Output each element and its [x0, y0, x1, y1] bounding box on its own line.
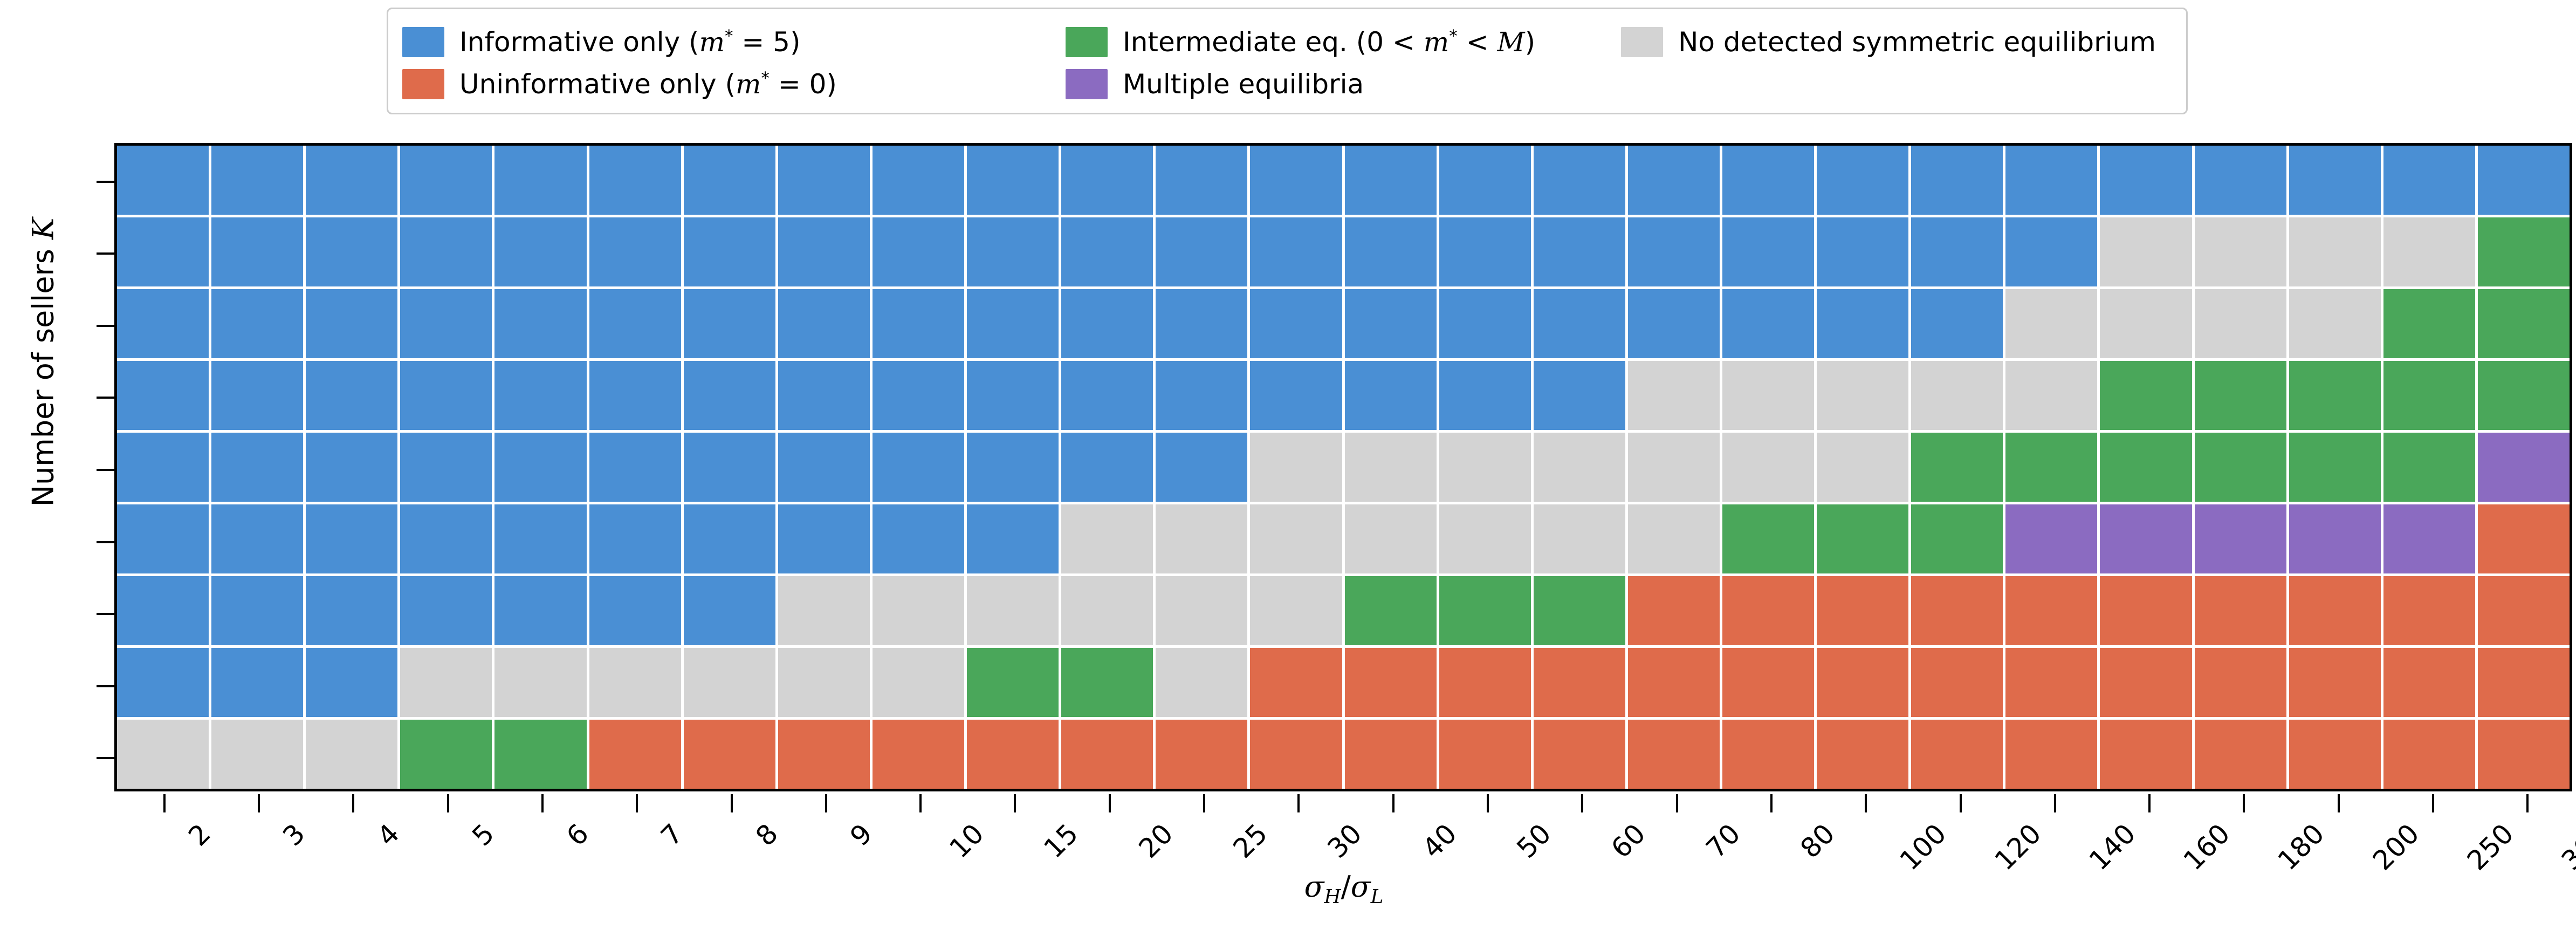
heatmap-cell[interactable]	[1439, 289, 1531, 358]
heatmap-cell[interactable]	[2383, 720, 2475, 789]
heatmap-cell[interactable]	[2195, 433, 2286, 502]
heatmap-cell[interactable]	[400, 146, 492, 215]
heatmap-cell[interactable]	[494, 504, 586, 573]
x-tick-label-80: 80	[1795, 818, 1841, 864]
heatmap-cell[interactable]	[1345, 433, 1437, 502]
x-tick-mark	[1297, 794, 1300, 812]
heatmap-cell[interactable]	[117, 504, 209, 573]
heatmap-cell[interactable]	[2383, 146, 2475, 215]
heatmap-cell[interactable]	[1250, 289, 1342, 358]
heatmap-cell[interactable]	[2289, 648, 2381, 717]
heatmap-cell[interactable]	[1911, 361, 2003, 430]
x-tick-label-5: 5	[466, 818, 500, 852]
heatmap-cell[interactable]	[778, 433, 870, 502]
x-tick-mark	[919, 794, 922, 812]
heatmap-cell[interactable]	[1250, 504, 1342, 573]
x-tick-label-10: 10	[944, 818, 990, 864]
heatmap-cell[interactable]	[2005, 217, 2097, 286]
heatmap-cell[interactable]	[2383, 504, 2475, 573]
heatmap-cell[interactable]	[1911, 720, 2003, 789]
heatmap-cell[interactable]	[589, 361, 681, 430]
x-tick-label-25: 25	[1227, 818, 1274, 864]
heatmap-cell[interactable]	[211, 361, 303, 430]
heatmap-cell[interactable]	[1628, 433, 1720, 502]
x-tick-mark	[636, 794, 638, 812]
x-tick-mark	[1109, 794, 1111, 812]
plot-area: 1098765432 23456789101520253040506070801…	[114, 143, 2572, 791]
heatmap-cell[interactable]	[2100, 433, 2192, 502]
heatmap-cell[interactable]	[494, 433, 586, 502]
heatmap-cell[interactable]	[211, 217, 303, 286]
heatmap-cell[interactable]	[400, 361, 492, 430]
legend-entry-informative-only[interactable]: Informative only (m* = 5)	[402, 27, 1066, 57]
heatmap-cell[interactable]	[1817, 648, 1908, 717]
heatmap-cell[interactable]	[1061, 146, 1153, 215]
heatmap-cell[interactable]	[2289, 433, 2381, 502]
x-tick-mark	[2243, 794, 2245, 812]
x-tick-label-3: 3	[277, 818, 311, 852]
heatmap-cell[interactable]	[1628, 217, 1720, 286]
heatmap-cell[interactable]	[589, 504, 681, 573]
heatmap-cell[interactable]	[1061, 720, 1153, 789]
heatmap-cell[interactable]	[1628, 720, 1720, 789]
heatmap-cell[interactable]	[306, 504, 397, 573]
y-axis-title: Number of sellers K	[26, 39, 60, 686]
heatmap-cell[interactable]	[1911, 217, 2003, 286]
heatmap-cell[interactable]	[967, 146, 1059, 215]
heatmap-cell[interactable]	[1817, 504, 1908, 573]
heatmap-cell[interactable]	[400, 576, 492, 645]
heatmap-cell[interactable]	[1345, 289, 1437, 358]
x-tick-mark	[2526, 794, 2529, 812]
heatmap-cell[interactable]	[1534, 720, 1625, 789]
heatmap-cell[interactable]	[873, 289, 964, 358]
heatmap-cell[interactable]	[1817, 720, 1908, 789]
x-tick-label-300: 300	[2556, 818, 2576, 876]
heatmap-cell[interactable]	[873, 720, 964, 789]
heatmap-cell[interactable]	[1722, 648, 1814, 717]
heatmap-cell[interactable]	[1722, 146, 1814, 215]
heatmap-cell[interactable]	[2383, 289, 2475, 358]
heatmap-cell[interactable]	[1439, 146, 1531, 215]
heatmap-cell[interactable]	[778, 504, 870, 573]
heatmap-cell[interactable]	[1628, 289, 1720, 358]
heatmap-cell[interactable]	[1250, 146, 1342, 215]
heatmap-cell[interactable]	[684, 433, 775, 502]
heatmap-cell[interactable]	[2478, 648, 2570, 717]
heatmap-cell[interactable]	[2195, 289, 2286, 358]
heatmap-cell[interactable]	[117, 217, 209, 286]
heatmap-cell[interactable]	[873, 504, 964, 573]
heatmap-cell[interactable]	[306, 361, 397, 430]
heatmap-cell[interactable]	[967, 217, 1059, 286]
heatmap-cell[interactable]	[778, 648, 870, 717]
heatmap-cell[interactable]	[967, 433, 1059, 502]
heatmap-cell[interactable]	[1534, 576, 1625, 645]
heatmap-figure: Informative only (m* = 5)Intermediate eq…	[0, 0, 2576, 929]
heatmap-cell[interactable]	[306, 433, 397, 502]
heatmap-cell[interactable]	[2100, 217, 2192, 286]
heatmap-cell[interactable]	[778, 361, 870, 430]
legend-label-multiple-equilibria: Multiple equilibria	[1123, 71, 1364, 98]
legend-swatch-intermediate-eq	[1066, 27, 1108, 57]
heatmap-cell[interactable]	[1061, 576, 1153, 645]
heatmap-cell[interactable]	[2005, 648, 2097, 717]
heatmap-cell[interactable]	[117, 648, 209, 717]
heatmap-cell[interactable]	[1628, 576, 1720, 645]
x-tick-label-200: 200	[2367, 818, 2425, 876]
heatmap-cell[interactable]	[400, 217, 492, 286]
heatmap-cell[interactable]	[211, 146, 303, 215]
heatmap-cell[interactable]	[778, 576, 870, 645]
heatmap-cell[interactable]	[967, 504, 1059, 573]
heatmap-cell[interactable]	[2289, 576, 2381, 645]
heatmap-cell[interactable]	[1250, 433, 1342, 502]
heatmap-cell[interactable]	[2383, 433, 2475, 502]
heatmap-cell[interactable]	[589, 433, 681, 502]
heatmap-cell[interactable]	[211, 504, 303, 573]
heatmap-cell[interactable]	[1534, 504, 1625, 573]
heatmap-cell[interactable]	[1534, 217, 1625, 286]
heatmap-cell[interactable]	[306, 289, 397, 358]
heatmap-cell[interactable]	[1345, 361, 1437, 430]
x-tick-mark	[2054, 794, 2056, 812]
heatmap-cell[interactable]	[684, 504, 775, 573]
heatmap-cell[interactable]	[1439, 217, 1531, 286]
heatmap-cell[interactable]	[2195, 146, 2286, 215]
heatmap-cell[interactable]	[2383, 217, 2475, 286]
heatmap-cell[interactable]	[684, 648, 775, 717]
heatmap-cell[interactable]	[1061, 504, 1153, 573]
heatmap-cell[interactable]	[1156, 217, 1247, 286]
heatmap-cell[interactable]	[2100, 361, 2192, 430]
heatmap-cell[interactable]	[400, 504, 492, 573]
heatmap-cell[interactable]	[1156, 289, 1247, 358]
legend-label-uninformative-only: Uninformative only (m* = 0)	[459, 71, 837, 98]
x-tick-label-140: 140	[2083, 818, 2141, 876]
heatmap-cell[interactable]	[1628, 648, 1720, 717]
x-tick-mark	[1203, 794, 1205, 812]
heatmap-cell[interactable]	[1534, 289, 1625, 358]
heatmap-cell[interactable]	[494, 361, 586, 430]
heatmap-cell[interactable]	[1250, 720, 1342, 789]
heatmap-cell[interactable]	[1817, 146, 1908, 215]
heatmap-cell[interactable]	[778, 289, 870, 358]
x-tick-label-15: 15	[1038, 818, 1084, 864]
heatmap-cell[interactable]	[2383, 361, 2475, 430]
heatmap-cell[interactable]	[2478, 146, 2570, 215]
heatmap-cell[interactable]	[2100, 576, 2192, 645]
heatmap-cell[interactable]	[684, 289, 775, 358]
heatmap-cell[interactable]	[1628, 361, 1720, 430]
heatmap-cell[interactable]	[1722, 720, 1814, 789]
heatmap-cell[interactable]	[1345, 146, 1437, 215]
heatmap-cell[interactable]	[1250, 576, 1342, 645]
heatmap-cell[interactable]	[2195, 217, 2286, 286]
heatmap-cell[interactable]	[117, 433, 209, 502]
x-tick-mark	[1770, 794, 1773, 812]
heatmap-cell[interactable]	[2289, 361, 2381, 430]
x-tick-mark	[1392, 794, 1395, 812]
heatmap-cell[interactable]	[2195, 361, 2286, 430]
heatmap-cell[interactable]	[117, 289, 209, 358]
heatmap-cell[interactable]	[211, 576, 303, 645]
heatmap-cell[interactable]	[589, 289, 681, 358]
heatmap-cell[interactable]	[1911, 648, 2003, 717]
heatmap-cell[interactable]	[2289, 146, 2381, 215]
heatmap-cell[interactable]	[1722, 217, 1814, 286]
heatmap-cell[interactable]	[2478, 504, 2570, 573]
heatmap-cell[interactable]	[400, 648, 492, 717]
y-tick-mark	[97, 469, 115, 471]
legend-grid: Informative only (m* = 5)Intermediate eq…	[402, 21, 2172, 105]
heatmap-cell[interactable]	[873, 217, 964, 286]
heatmap-cell[interactable]	[2478, 289, 2570, 358]
heatmap-cell[interactable]	[400, 720, 492, 789]
heatmap-grid	[117, 146, 2570, 789]
heatmap-cell[interactable]	[1817, 289, 1908, 358]
heatmap-cell[interactable]	[400, 289, 492, 358]
heatmap-cell[interactable]	[494, 720, 586, 789]
legend-swatch-uninformative-only	[402, 69, 444, 99]
heatmap-cell[interactable]	[306, 576, 397, 645]
heatmap-cell[interactable]	[2005, 576, 2097, 645]
heatmap-cell[interactable]	[2005, 146, 2097, 215]
heatmap-cell[interactable]	[684, 361, 775, 430]
heatmap-cell[interactable]	[1061, 289, 1153, 358]
heatmap-cell[interactable]	[1439, 361, 1531, 430]
heatmap-cell[interactable]	[873, 648, 964, 717]
heatmap-cell[interactable]	[873, 576, 964, 645]
heatmap-cell[interactable]	[1911, 433, 2003, 502]
heatmap-cell[interactable]	[1250, 217, 1342, 286]
heatmap-cell[interactable]	[1817, 217, 1908, 286]
heatmap-cell[interactable]	[967, 361, 1059, 430]
heatmap-cell[interactable]	[2478, 361, 2570, 430]
heatmap-cell[interactable]	[1722, 361, 1814, 430]
heatmap-cell[interactable]	[1439, 433, 1531, 502]
heatmap-cell[interactable]	[589, 720, 681, 789]
heatmap-cell[interactable]	[2100, 289, 2192, 358]
heatmap-cell[interactable]	[1345, 648, 1437, 717]
heatmap-cell[interactable]	[589, 146, 681, 215]
y-tick-mark	[97, 325, 115, 327]
heatmap-cell[interactable]	[306, 720, 397, 789]
heatmap-cell[interactable]	[967, 720, 1059, 789]
heatmap-cell[interactable]	[1156, 146, 1247, 215]
heatmap-cell[interactable]	[494, 146, 586, 215]
x-tick-mark	[731, 794, 733, 812]
heatmap-cell[interactable]	[1061, 648, 1153, 717]
heatmap-cell[interactable]	[1817, 361, 1908, 430]
legend-swatch-multiple-equilibria	[1066, 69, 1108, 99]
heatmap-cell[interactable]	[1250, 648, 1342, 717]
heatmap-cell[interactable]	[1722, 504, 1814, 573]
heatmap-cell[interactable]	[117, 146, 209, 215]
heatmap-cell[interactable]	[778, 146, 870, 215]
heatmap-cell[interactable]	[1156, 648, 1247, 717]
heatmap-cell[interactable]	[1911, 289, 2003, 358]
heatmap-cell[interactable]	[1722, 576, 1814, 645]
heatmap-cell[interactable]	[1817, 576, 1908, 645]
heatmap-cell[interactable]	[306, 217, 397, 286]
heatmap-cell[interactable]	[967, 648, 1059, 717]
x-tick-mark	[825, 794, 827, 812]
y-tick-mark	[97, 181, 115, 183]
heatmap-cell[interactable]	[306, 648, 397, 717]
heatmap-cell[interactable]	[494, 217, 586, 286]
heatmap-cell[interactable]	[2195, 648, 2286, 717]
heatmap-cell[interactable]	[1534, 146, 1625, 215]
x-tick-label-180: 180	[2272, 818, 2330, 876]
heatmap-cell[interactable]	[400, 433, 492, 502]
heatmap-cell[interactable]	[1534, 433, 1625, 502]
x-tick-label-6: 6	[560, 818, 595, 852]
heatmap-cell[interactable]	[1061, 361, 1153, 430]
x-tick-mark	[2338, 794, 2340, 812]
heatmap-cell[interactable]	[2289, 289, 2381, 358]
heatmap-cell[interactable]	[494, 648, 586, 717]
heatmap-cell[interactable]	[211, 433, 303, 502]
heatmap-cell[interactable]	[211, 648, 303, 717]
heatmap-cell[interactable]	[1345, 504, 1437, 573]
legend-entry-no-detected-eq[interactable]: No detected symmetric equilibrium	[1621, 27, 2172, 57]
heatmap-cell[interactable]	[1628, 146, 1720, 215]
heatmap-cell[interactable]	[2005, 361, 2097, 430]
heatmap-cell[interactable]	[967, 289, 1059, 358]
legend-entry-uninformative-only[interactable]: Uninformative only (m* = 0)	[402, 69, 1066, 99]
heatmap-cell[interactable]	[2100, 648, 2192, 717]
y-tick-mark	[97, 613, 115, 615]
heatmap-cell[interactable]	[2195, 576, 2286, 645]
heatmap-cell[interactable]	[2195, 504, 2286, 573]
heatmap-cell[interactable]	[117, 576, 209, 645]
x-tick-mark	[541, 794, 544, 812]
x-tick-label-4: 4	[372, 818, 406, 852]
x-tick-mark	[1960, 794, 1962, 812]
legend-entry-multiple-equilibria[interactable]: Multiple equilibria	[1066, 69, 1621, 99]
heatmap-cell[interactable]	[2383, 576, 2475, 645]
heatmap-cell[interactable]	[1911, 576, 2003, 645]
heatmap-cell[interactable]	[684, 146, 775, 215]
heatmap-cell[interactable]	[1156, 720, 1247, 789]
heatmap-cell[interactable]	[1061, 433, 1153, 502]
heatmap-cell[interactable]	[2100, 504, 2192, 573]
heatmap-cell[interactable]	[684, 217, 775, 286]
heatmap-cell[interactable]	[1156, 504, 1247, 573]
heatmap-cell[interactable]	[2100, 720, 2192, 789]
x-tick-mark	[163, 794, 166, 812]
heatmap-cell[interactable]	[1345, 217, 1437, 286]
heatmap-cell[interactable]	[494, 289, 586, 358]
heatmap-cell[interactable]	[1061, 217, 1153, 286]
legend-label-no-detected-eq: No detected symmetric equilibrium	[1678, 29, 2156, 56]
heatmap-cell[interactable]	[873, 361, 964, 430]
heatmap-cell[interactable]	[1628, 504, 1720, 573]
heatmap-cell[interactable]	[589, 576, 681, 645]
heatmap-cell[interactable]	[2478, 720, 2570, 789]
heatmap-cell[interactable]	[2383, 648, 2475, 717]
x-tick-mark	[1865, 794, 1867, 812]
x-tick-mark	[1581, 794, 1583, 812]
heatmap-cell[interactable]	[1817, 433, 1908, 502]
heatmap-cell[interactable]	[1439, 648, 1531, 717]
heatmap-cell[interactable]	[2289, 217, 2381, 286]
x-tick-label-100: 100	[1894, 818, 1952, 876]
x-tick-label-250: 250	[2461, 818, 2519, 876]
heatmap-cell[interactable]	[211, 289, 303, 358]
heatmap-cell[interactable]	[2289, 720, 2381, 789]
x-tick-label-20: 20	[1132, 818, 1179, 864]
x-tick-mark	[447, 794, 449, 812]
heatmap-cell[interactable]	[2005, 433, 2097, 502]
heatmap-cell[interactable]	[2478, 217, 2570, 286]
heatmap-cell[interactable]	[2478, 433, 2570, 502]
heatmap-cell[interactable]	[494, 576, 586, 645]
heatmap-cell[interactable]	[2005, 504, 2097, 573]
y-tick-mark	[97, 252, 115, 255]
heatmap-cell[interactable]	[1156, 433, 1247, 502]
heatmap-cell[interactable]	[2005, 289, 2097, 358]
heatmap-cell[interactable]	[684, 720, 775, 789]
heatmap-cell[interactable]	[2195, 720, 2286, 789]
x-tick-label-40: 40	[1416, 818, 1462, 864]
x-tick-label-70: 70	[1700, 818, 1746, 864]
x-tick-mark	[2432, 794, 2434, 812]
heatmap-cell[interactable]	[1439, 504, 1531, 573]
heatmap-cell[interactable]	[589, 217, 681, 286]
heatmap-cell[interactable]	[1722, 433, 1814, 502]
x-tick-mark	[352, 794, 354, 812]
heatmap-cell[interactable]	[1345, 576, 1437, 645]
x-tick-label-7: 7	[655, 818, 690, 852]
x-tick-mark	[1014, 794, 1016, 812]
heatmap-cell[interactable]	[1534, 648, 1625, 717]
heatmap-cell[interactable]	[1156, 576, 1247, 645]
legend-swatch-informative-only	[402, 27, 444, 57]
heatmap-cell[interactable]	[778, 720, 870, 789]
heatmap-cell[interactable]	[1722, 289, 1814, 358]
heatmap-cell[interactable]	[1156, 361, 1247, 430]
heatmap-cell[interactable]	[2478, 576, 2570, 645]
y-tick-mark	[97, 541, 115, 543]
x-tick-mark	[258, 794, 260, 812]
heatmap-cell[interactable]	[1345, 720, 1437, 789]
legend-entry-intermediate-eq[interactable]: Intermediate eq. (0 < m* < M)	[1066, 27, 1621, 57]
heatmap-cell[interactable]	[1439, 720, 1531, 789]
heatmap-cell[interactable]	[2100, 146, 2192, 215]
heatmap-cell[interactable]	[873, 433, 964, 502]
heatmap-cell[interactable]	[1534, 361, 1625, 430]
heatmap-cell[interactable]	[589, 648, 681, 717]
heatmap-cell[interactable]	[1911, 146, 2003, 215]
heatmap-cell[interactable]	[117, 361, 209, 430]
heatmap-cell[interactable]	[2005, 720, 2097, 789]
heatmap-cell[interactable]	[306, 146, 397, 215]
heatmap-cell[interactable]	[684, 576, 775, 645]
heatmap-cell[interactable]	[117, 720, 209, 789]
heatmap-cell[interactable]	[873, 146, 964, 215]
heatmap-cell[interactable]	[211, 720, 303, 789]
heatmap-cell[interactable]	[2289, 504, 2381, 573]
x-tick-label-120: 120	[1988, 818, 2046, 876]
heatmap-cell[interactable]	[967, 576, 1059, 645]
heatmap-cell[interactable]	[778, 217, 870, 286]
x-tick-label-50: 50	[1511, 818, 1557, 864]
heatmap-cell[interactable]	[1439, 576, 1531, 645]
heatmap-cell[interactable]	[1250, 361, 1342, 430]
heatmap-cell[interactable]	[1911, 504, 2003, 573]
